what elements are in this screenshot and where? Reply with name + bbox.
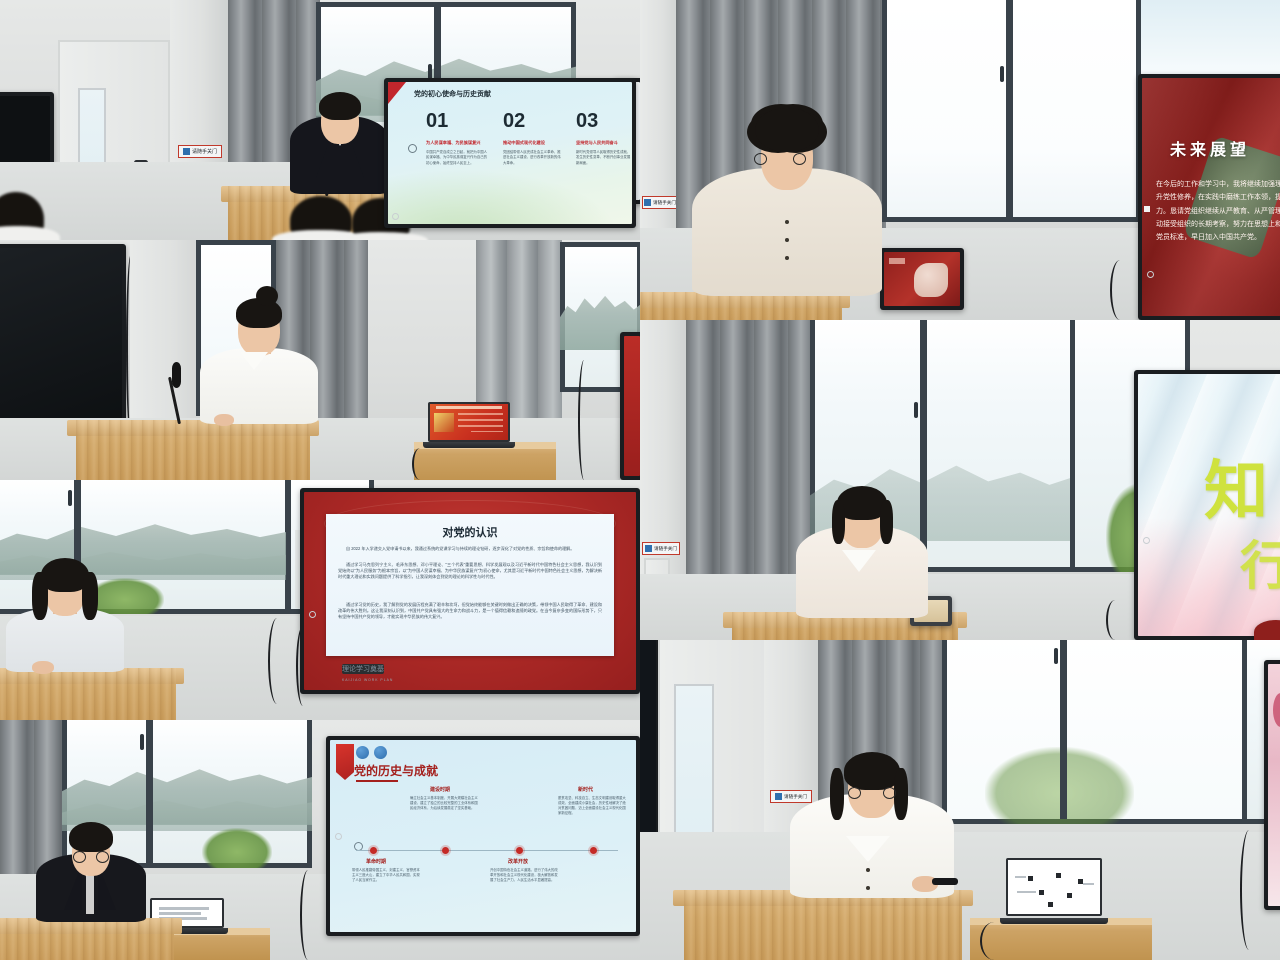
speaker-person xyxy=(200,278,318,424)
window-mullion xyxy=(1006,0,1013,217)
text-line xyxy=(159,907,209,910)
hair-bun xyxy=(256,286,278,306)
panel-5-man-curly-hair-speaking: 请随手关门 xyxy=(640,0,1280,320)
panel-1-man-in-suit-at-podium: 请随手关门 xyxy=(0,0,640,240)
round-eyeglasses xyxy=(754,158,806,159)
diagram-node xyxy=(1067,893,1072,898)
hair-strand xyxy=(32,572,48,620)
timeline-label: 新时代 xyxy=(578,786,593,793)
calligraphy-character: 行 xyxy=(1240,524,1280,599)
door-sign-label: 请随手关门 xyxy=(654,546,677,552)
light-shirt xyxy=(6,608,124,672)
laptop-slide xyxy=(430,404,508,440)
mic-head xyxy=(172,362,181,388)
text-line xyxy=(458,419,503,421)
diagram-node xyxy=(1039,890,1044,895)
sign-icon xyxy=(644,199,651,206)
slide-number: 03 xyxy=(576,110,598,133)
emblem-icon xyxy=(356,746,369,759)
timeline-dot xyxy=(370,847,377,854)
power-indicator-icon xyxy=(392,213,399,220)
wood-grain xyxy=(0,668,176,720)
display-cable xyxy=(1240,830,1258,950)
slide-title: 对党的认识 xyxy=(326,524,614,540)
title-underline xyxy=(356,780,398,782)
slide-number: 02 xyxy=(503,110,525,133)
power-indicator-icon xyxy=(1147,271,1154,278)
slide-title: 党的初心使命与历史贡献 xyxy=(414,89,491,99)
lectern xyxy=(0,668,176,720)
power-cable xyxy=(980,922,1008,960)
display-screen: 党的历史与成就 革命时期 带领人民推翻帝国主义、封建主义、官僚资本主义三座大山，… xyxy=(330,740,636,932)
wall-display-main[interactable]: 知 行 xyxy=(1134,370,1280,640)
panel-6-woman-at-podium-zhi-screen: 请随手关门 xyxy=(640,320,1280,640)
laptop-lid xyxy=(428,402,510,442)
display-screen: 对党的认识 自 2022 年入学递交入党申请书以来，我通过系统的党课学习与持续的… xyxy=(304,492,636,690)
wood-grain xyxy=(0,918,174,960)
audience-shoulders xyxy=(336,232,428,240)
slide-number: 01 xyxy=(426,110,448,133)
timeline-label: 改革开放 xyxy=(508,858,528,865)
wall-display-main[interactable]: 党的初心使命与历史贡献 01 为人民谋幸福、为民族谋复兴 中国共产党自成立之日起… xyxy=(384,78,636,228)
wood-grain xyxy=(684,890,962,960)
slide-calligraphy: 知 行 xyxy=(1138,374,1280,636)
diagram-label xyxy=(1017,891,1035,893)
speaker-person xyxy=(6,546,124,672)
wall-picture-frame xyxy=(880,248,964,310)
classroom-scene xyxy=(0,240,640,480)
text-line xyxy=(159,912,201,915)
hair-strand xyxy=(880,500,893,544)
slide-decor xyxy=(388,164,632,224)
shirt-button xyxy=(866,886,870,890)
tree xyxy=(202,828,272,868)
diagram-label xyxy=(1015,876,1026,878)
slide-title: 未来展望 xyxy=(1170,136,1250,160)
door-sign: 请随手关门 xyxy=(642,196,678,209)
text-line xyxy=(458,413,503,415)
slide-bullet-icon xyxy=(408,144,417,153)
calligraphy-character: 知 xyxy=(1204,440,1268,532)
photo-collage: 请随手关门 xyxy=(0,0,1280,960)
laptop[interactable] xyxy=(1006,858,1102,924)
hair xyxy=(69,822,113,852)
wall-display-main[interactable]: 党的历史与成就 革命时期 带领人民推翻帝国主义、封建主义、官僚资本主义三座大山，… xyxy=(326,736,640,936)
slide-party-understanding: 对党的认识 自 2022 年入学递交入党申请书以来，我通过系统的党课学习与持续的… xyxy=(304,492,636,690)
wood-grain xyxy=(640,292,842,320)
diagram-node xyxy=(1056,873,1061,878)
hair xyxy=(319,92,361,120)
laptop-lid xyxy=(1006,858,1102,916)
display-screen xyxy=(0,248,122,440)
hand-illustration xyxy=(914,263,947,298)
timeline-dot xyxy=(442,847,449,854)
sign-icon xyxy=(775,793,782,800)
slide-subtitle: 为人民谋幸福、为民族谋复兴 xyxy=(426,140,480,146)
door-sign-label: 请随手关门 xyxy=(653,200,676,206)
speaker-person xyxy=(36,816,146,922)
curly-hair xyxy=(755,108,819,152)
lectern xyxy=(76,420,310,480)
panel-7-woman-with-clicker: 请随手关门 xyxy=(640,640,1280,960)
classroom-window xyxy=(942,640,1252,824)
wall-display-red-edge[interactable] xyxy=(620,332,640,480)
hair-strand xyxy=(82,572,98,620)
window-mullion xyxy=(146,720,153,863)
diagram-node xyxy=(1048,902,1053,907)
timeline-label: 建设时期 xyxy=(430,786,450,793)
hand xyxy=(32,661,54,674)
timeline-text: 确立社会主义基本制度，开展大规模社会主义建设，建立了独立的比较完整的工业体系和国… xyxy=(410,796,480,811)
power-cable xyxy=(412,448,428,480)
lectern xyxy=(684,890,962,960)
display-screen xyxy=(624,336,640,476)
flag-icon xyxy=(336,744,354,780)
picture-image xyxy=(884,252,960,306)
display-screen: 知 行 xyxy=(1138,374,1280,636)
slide-body: 新时代党领导人民取得历史性成就，发生历史性变革，不断开创事业发展新局面。 xyxy=(576,150,632,166)
slide-party-history: 党的历史与成就 革命时期 带领人民推翻帝国主义、封建主义、官僚资本主义三座大山，… xyxy=(330,740,636,932)
display-cable xyxy=(578,360,590,480)
timeline-text: 脱贫攻坚、科技自立、生态文明建设取得重大成效，全面建成小康社会，历史性地解决了绝… xyxy=(558,796,628,816)
timeline-label: 革命时期 xyxy=(366,858,386,865)
power-indicator-icon xyxy=(1143,537,1150,544)
display-screen: 党的初心使命与历史贡献 01 为人民谋幸福、为民族谋复兴 中国共产党自成立之日起… xyxy=(388,82,632,224)
text-line xyxy=(471,431,504,433)
shirt-button xyxy=(785,220,789,224)
slide-party-mission: 党的初心使命与历史贡献 01 为人民谋幸福、为民族谋复兴 中国共产党自成立之日起… xyxy=(388,82,632,224)
lectern xyxy=(0,918,174,960)
speaker-person xyxy=(290,90,390,194)
display-cable xyxy=(268,618,286,704)
slide-body: 在今后的工作和学习中，我将继续加强理论学习，不断提升党性修养，在实践中磨练工作本… xyxy=(1156,178,1280,244)
laptop-screen xyxy=(1008,860,1100,914)
wood-grain xyxy=(76,420,310,480)
panel-2-woman-white-polo-at-podium xyxy=(0,240,640,480)
display-screen: 未来展望 在今后的工作和学习中，我将继续加强理论学习，不断提升党性修养，在实践中… xyxy=(1142,78,1280,316)
slide-paragraph: 通过学习马克思列宁主义、毛泽东思想、邓小平理论、"三个代表"重要思想、科学发展观… xyxy=(338,562,602,580)
wall-display-main[interactable]: 对党的认识 自 2022 年入学递交入党申请书以来，我通过系统的党课学习与持续的… xyxy=(300,488,640,694)
timeline-text: 带领人民推翻帝国主义、封建主义、官僚资本主义三座大山，建立了中华人民共和国，实现… xyxy=(352,868,422,883)
slide-paragraph: 通过学习党的历史，我了解到党的发展历程充满了艰辛和坎坷，但党始终能够在关键时刻做… xyxy=(338,602,602,620)
slide-page: 对党的认识 自 2022 年入学递交入党申请书以来，我通过系统的党课学习与持续的… xyxy=(326,514,614,656)
eyeglasses xyxy=(73,856,109,857)
gooseneck-microphone[interactable] xyxy=(170,362,188,424)
necktie xyxy=(86,876,94,914)
timeline-axis xyxy=(356,850,618,851)
door-sign: 请随手关门 xyxy=(642,542,680,555)
slide-footer-en: KAIJIAO WORK PLAN xyxy=(342,678,393,682)
display-cable xyxy=(1110,260,1130,320)
shirt-button xyxy=(785,256,789,260)
slide-bullet-icon xyxy=(1144,206,1150,212)
window-latch[interactable] xyxy=(140,734,144,750)
speaker-person xyxy=(796,468,928,618)
hair xyxy=(844,752,900,790)
sign-icon xyxy=(645,545,652,552)
diagram-node xyxy=(1078,879,1083,884)
speaker-person xyxy=(692,96,882,296)
emblem-icon xyxy=(374,746,387,759)
wall-display-main[interactable]: 未来展望 在今后的工作和学习中，我将继续加强理论学习，不断提升党性修养，在实践中… xyxy=(1138,74,1280,320)
slide-graphic xyxy=(1273,693,1280,727)
display-cable xyxy=(1106,600,1124,640)
diagram-label xyxy=(1083,883,1094,885)
slide-body: 中国共产党自成立之日起，就把为中国人民谋幸福、为中华民族谋复兴作为自己的初心使命… xyxy=(426,150,488,166)
power-indicator-icon xyxy=(335,833,342,840)
slide-future-outlook: 未来展望 在今后的工作和学习中，我将继续加强理论学习，不断提升党性修养，在实践中… xyxy=(1142,78,1280,316)
hair-strand xyxy=(832,500,845,544)
laptop[interactable] xyxy=(428,402,510,448)
slide-corner-accent xyxy=(388,82,406,104)
slide-subtitle: 坚持党与人民共同奋斗 xyxy=(576,140,618,146)
slide-footer-cn: 理论学习奠基 xyxy=(342,664,384,674)
text-line xyxy=(458,425,503,427)
lectern xyxy=(640,292,842,320)
speaker-person xyxy=(790,744,954,898)
sign-icon xyxy=(183,148,190,155)
slide-body: 党团结带领人民完成社会主义革命，推进社会主义建设，进行改革开放新的伟大革命。 xyxy=(503,150,563,166)
wall-display-right[interactable] xyxy=(1264,660,1280,910)
laptop-base xyxy=(423,442,515,448)
timeline-dot xyxy=(590,847,597,854)
slide-subtitle: 推动中国式现代化建设 xyxy=(503,140,545,146)
slide-paragraph: 自 2022 年入学递交入党申请书以来，我通过系统的党课学习与持续的理论钻研，逐… xyxy=(338,546,602,552)
hair-strand xyxy=(830,768,844,820)
classroom-window xyxy=(882,0,1142,222)
laptop-slide xyxy=(1008,860,1100,914)
laptop-screen xyxy=(430,404,508,440)
panel-4-man-suit-glasses-timeline: 党的历史与成就 革命时期 带领人民推翻帝国主义、封建主义、官僚资本主义三座大山，… xyxy=(0,720,640,960)
slide-title: 党的历史与成就 xyxy=(354,762,438,779)
window-mullion xyxy=(1060,640,1067,819)
shirt-button xyxy=(785,238,789,242)
presentation-clicker[interactable] xyxy=(932,878,958,885)
timeline-text: 开创中国特色社会主义道路，进行了伟大的改革开放和社会主义现代化建设，极大解放和发… xyxy=(490,868,560,883)
window-latch[interactable] xyxy=(1000,66,1004,82)
eyeglasses xyxy=(848,792,896,793)
display-screen xyxy=(1268,664,1280,906)
shirt-button xyxy=(866,868,870,872)
door-sign: 请随手关门 xyxy=(178,145,222,158)
display-cable xyxy=(300,870,316,960)
power-indicator-icon xyxy=(309,611,316,618)
panel-3-woman-long-hair-red-screen: 对党的认识 自 2022 年入学递交入党申请书以来，我通过系统的党课学习与持续的… xyxy=(0,480,640,720)
laptop-base xyxy=(1000,918,1108,924)
hair-strand xyxy=(894,768,908,820)
laptop-slide-title xyxy=(436,406,502,409)
window-latch[interactable] xyxy=(68,490,72,506)
wall-display-off[interactable] xyxy=(0,244,126,444)
window-latch[interactable] xyxy=(1054,648,1058,664)
door-sign-label: 请随手关门 xyxy=(192,148,217,155)
diagram-node xyxy=(1028,876,1033,881)
hand xyxy=(214,414,234,426)
timeline-dot xyxy=(516,847,523,854)
classroom-scene: 请随手关门 xyxy=(640,640,1280,960)
caption-bar xyxy=(889,258,906,263)
window-latch[interactable] xyxy=(914,402,918,418)
laptop-slide-image xyxy=(434,413,454,433)
